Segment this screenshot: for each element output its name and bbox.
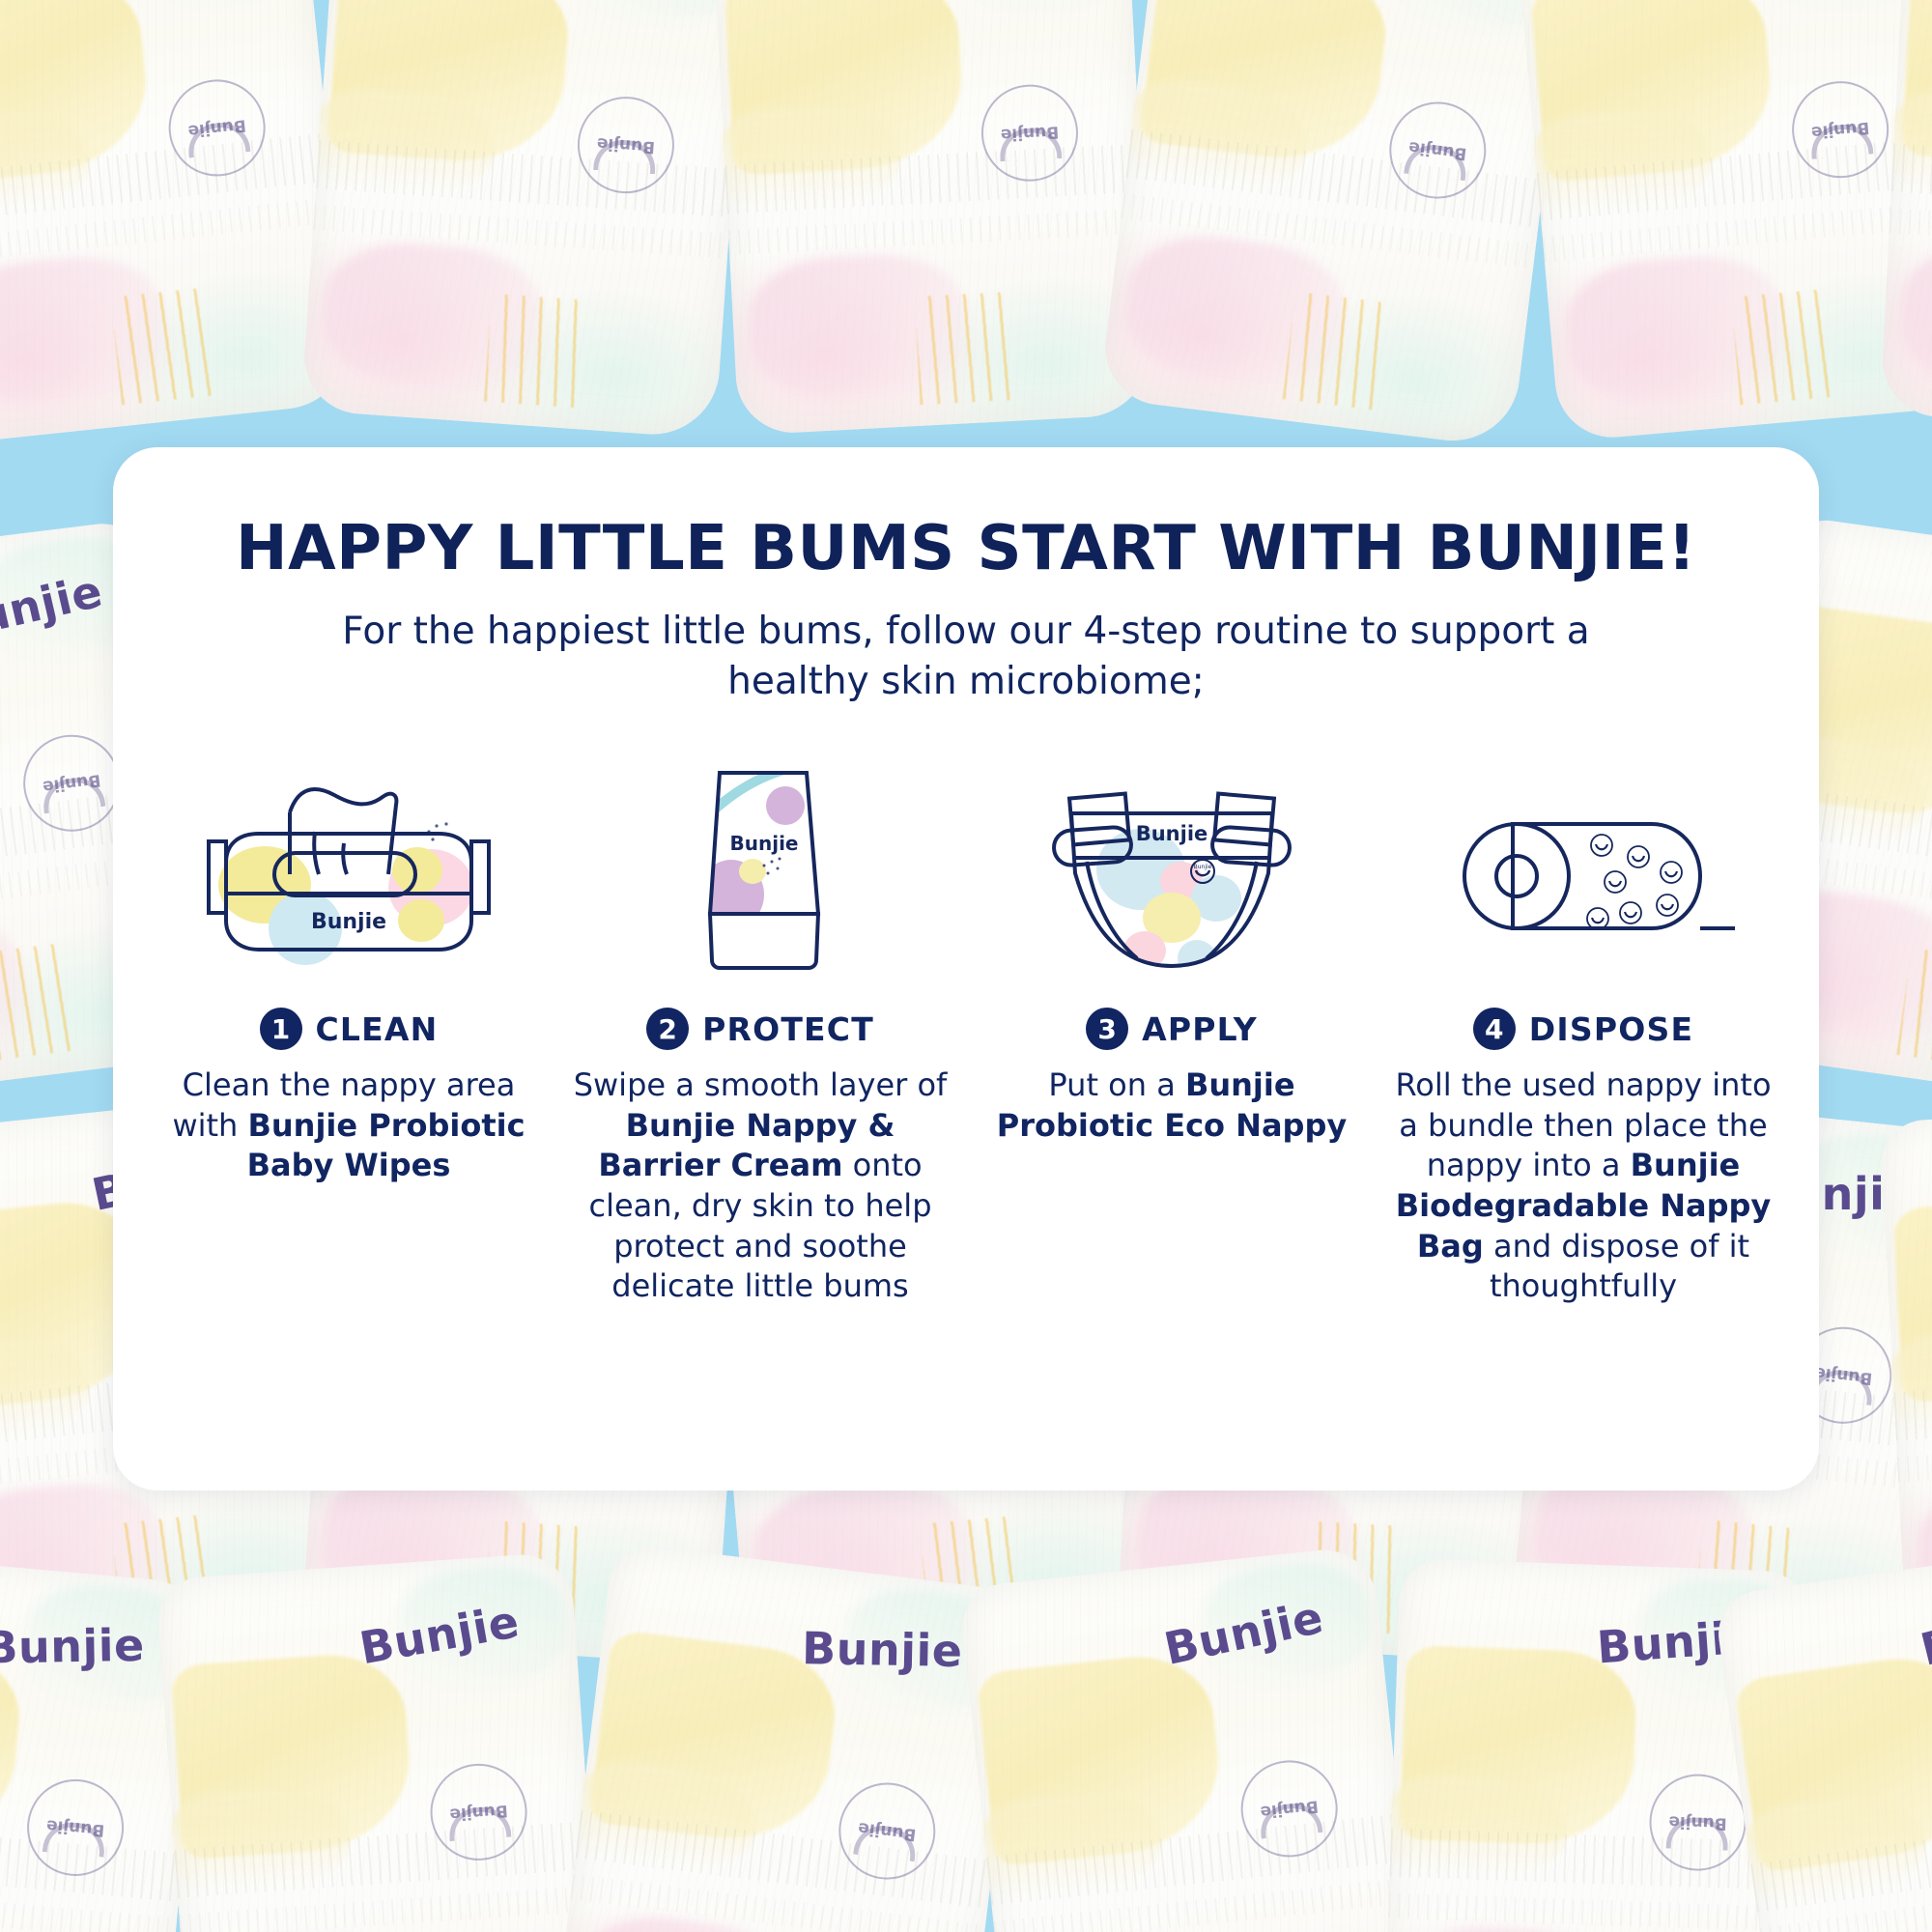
step-header: 2 PROTECT — [646, 1008, 874, 1050]
steps-row: Bunjie 1 CLEAN Clean the nappy area with… — [156, 745, 1776, 1307]
step-header: 4 DISPOSE — [1473, 1008, 1693, 1050]
step-apply: Bunjie Bunjie 3 APPLY Put on a Bunjie Pr… — [979, 745, 1365, 1146]
wipes-pack-icon: Bunjie — [189, 745, 508, 977]
step-title: APPLY — [1142, 1010, 1258, 1048]
step-header: 3 APPLY — [1086, 1008, 1258, 1050]
background-nappy-tile: BunjieBunjie — [711, 0, 1154, 436]
poster-canvas: BunjieBunjieBunjieBunjieBunjieBunjieBunj… — [0, 0, 1932, 1932]
step-description: Clean the nappy area with Bunjie Probiot… — [156, 1065, 542, 1186]
nappy-icon: Bunjie Bunjie — [1027, 745, 1317, 977]
step-dispose: 4 DISPOSE Roll the used nappy into a bun… — [1390, 745, 1776, 1307]
svg-text:Bunjie: Bunjie — [311, 910, 386, 934]
nappy-bag-roll-icon — [1424, 745, 1743, 977]
svg-text:Bunjie: Bunjie — [1136, 822, 1208, 845]
info-card: HAPPY LITTLE BUMS START WITH BUNJIE! For… — [113, 447, 1819, 1491]
step-description: Roll the used nappy into a bundle then p… — [1390, 1065, 1776, 1307]
background-nappy-tile: BunjieBunjie — [1098, 0, 1577, 448]
step-number-badge: 2 — [646, 1008, 689, 1050]
step-title: DISPOSE — [1529, 1010, 1693, 1048]
background-nappy-tile: BunjieBunjie — [156, 1551, 608, 1932]
svg-text:Bunjie: Bunjie — [730, 832, 799, 855]
step-protect: Bunjie 2 PROTECT Swipe a smooth layer of… — [567, 745, 953, 1307]
background-nappy-tile: BunjieBunjie — [1513, 0, 1932, 442]
background-nappy-tile: BunjieBunjie — [958, 1545, 1428, 1932]
step-clean: Bunjie 1 CLEAN Clean the nappy area with… — [156, 745, 542, 1186]
step-title: CLEAN — [316, 1010, 439, 1048]
step-description: Swipe a smooth layer of Bunjie Nappy & B… — [567, 1065, 953, 1307]
step-header: 1 CLEAN — [260, 1008, 439, 1050]
cream-tube-icon: Bunjie — [664, 745, 857, 977]
background-nappy-tile: BunjieBunjie — [548, 1542, 1026, 1932]
step-title: PROTECT — [702, 1010, 874, 1048]
background-nappy-tile: BunjieBunjie — [300, 0, 753, 439]
page-title: HAPPY LITTLE BUMS START WITH BUNJIE! — [113, 447, 1819, 582]
step-number-badge: 1 — [260, 1008, 302, 1050]
page-subtitle: For the happiest little bums, follow our… — [290, 607, 1642, 706]
step-number-badge: 4 — [1473, 1008, 1516, 1050]
step-description: Put on a Bunjie Probiotic Eco Nappy — [979, 1065, 1365, 1146]
svg-text:Bunjie: Bunjie — [1194, 864, 1212, 870]
step-number-badge: 3 — [1086, 1008, 1128, 1050]
